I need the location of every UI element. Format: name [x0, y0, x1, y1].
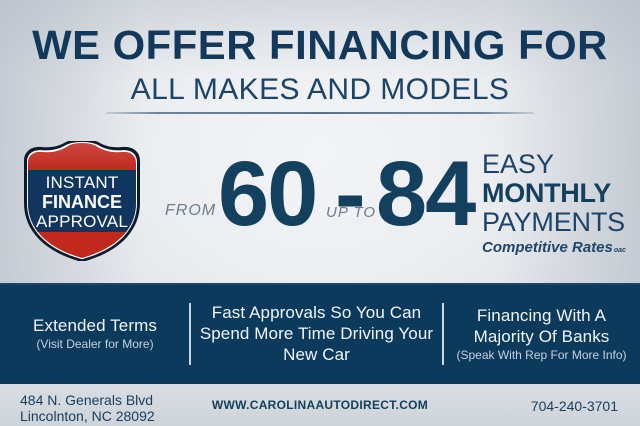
- payments-line-1: EASY: [482, 150, 634, 179]
- instant-finance-approval-badge: INSTANT FINANCE APPROVAL: [18, 141, 146, 261]
- oac-superscript: oac: [614, 247, 626, 254]
- feature-column-majority-of-banks: Financing With A Majority Of Banks (Spea…: [443, 305, 640, 363]
- headline-primary: WE OFFER FINANCING FOR: [0, 22, 640, 68]
- footer-bar: 484 N. Generals Blvd Lincolnton, NC 2809…: [0, 384, 640, 426]
- competitive-rates-note: Competitive Ratesoac: [482, 239, 634, 259]
- band-divider-2: [442, 303, 444, 365]
- feature-note: (Visit Dealer for More): [6, 337, 184, 352]
- range-dash: -: [335, 148, 366, 240]
- headline-divider: [106, 112, 534, 114]
- up-to-label: UP TO: [326, 204, 376, 221]
- feature-title: Extended Terms: [6, 315, 184, 336]
- headline-block: WE OFFER FINANCING FOR ALL MAKES AND MOD…: [0, 22, 640, 108]
- feature-title: Fast Approvals So You Can Spend More Tim…: [196, 302, 437, 365]
- feature-note: (Speak With Rep For More Info): [449, 348, 634, 363]
- features-band: Extended Terms (Visit Dealer for More) F…: [0, 283, 640, 384]
- feature-column-fast-approvals: Fast Approvals So You Can Spend More Tim…: [190, 302, 443, 365]
- term-maximum-value: 84: [376, 148, 474, 240]
- term-minimum-value: 60: [218, 148, 316, 240]
- feature-title: Financing With A Majority Of Banks: [449, 305, 634, 347]
- competitive-rates-text: Competitive Rates: [482, 239, 613, 256]
- band-top-sheen: [0, 283, 640, 285]
- financing-promo-banner: WE OFFER FINANCING FOR ALL MAKES AND MOD…: [0, 0, 640, 426]
- payments-line-3: PAYMENTS: [482, 208, 634, 237]
- payments-line-2: MONTHLY: [482, 179, 634, 208]
- shield-icon: [18, 141, 146, 261]
- from-label: FROM: [165, 202, 216, 220]
- headline-secondary: ALL MAKES AND MODELS: [0, 72, 640, 108]
- term-range-block: FROM 60 - UP TO 84: [160, 142, 490, 264]
- feature-column-extended-terms: Extended Terms (Visit Dealer for More): [0, 315, 190, 352]
- dealer-phone[interactable]: 704-240-3701: [531, 398, 618, 414]
- band-divider-1: [189, 303, 191, 365]
- easy-monthly-payments-block: EASY MONTHLY PAYMENTS Competitive Rateso…: [482, 150, 634, 259]
